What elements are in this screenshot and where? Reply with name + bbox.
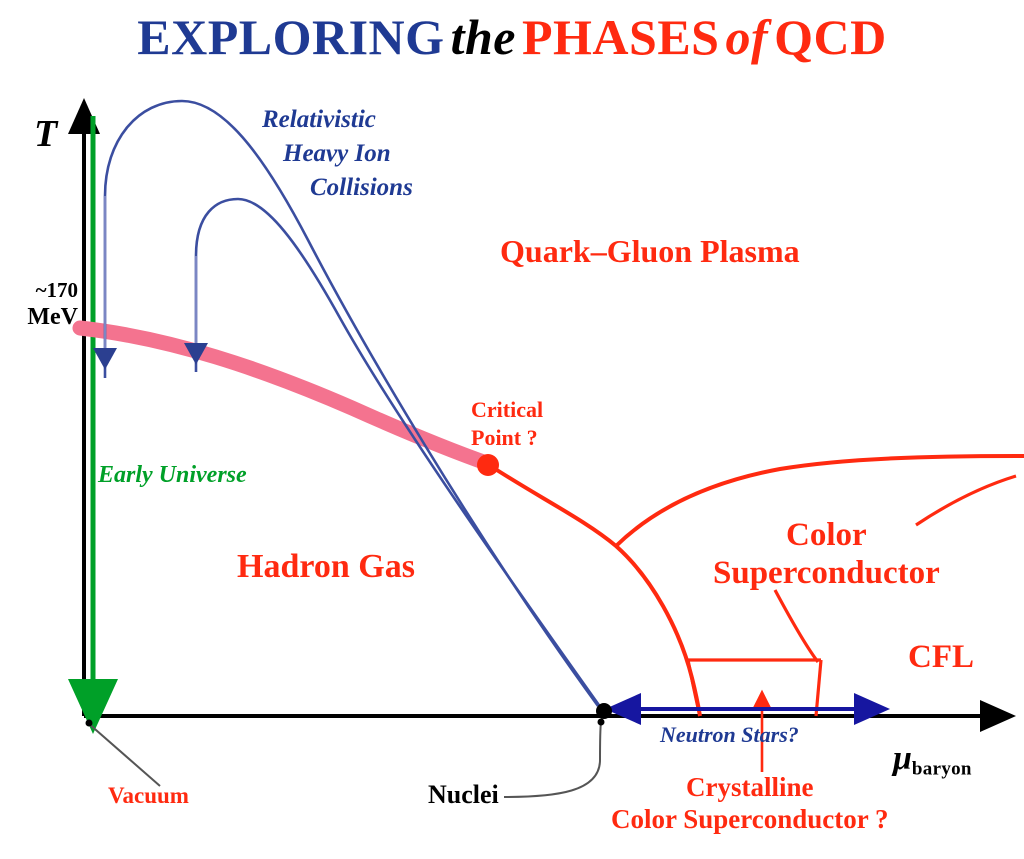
color-superconductor-line-1: Color — [713, 516, 940, 554]
vacuum-label: Vacuum — [108, 783, 189, 809]
critical-point-line-2: Point ? — [471, 424, 543, 452]
nuclei-leader-dot — [598, 719, 605, 726]
early-universe-label: Early Universe — [98, 462, 247, 489]
crystalline-line-2: Color Superconductor ? — [611, 804, 889, 836]
rhic-line-3: Collisions — [262, 171, 413, 205]
cfl-label: CFL — [908, 639, 974, 676]
neutron-stars-label: Neutron Stars? — [660, 722, 799, 748]
crystalline-line-1: Crystalline — [611, 772, 889, 804]
color-superconductor-line-2: Superconductor — [713, 554, 940, 592]
rhic-line-2: Heavy Ion — [262, 137, 413, 171]
qcd-phase-diagram-figure: EXPLORINGthePHASESofQCD — [0, 0, 1024, 859]
rhic-line-1: Relativistic — [262, 103, 413, 137]
y-tick-value: ~170 — [0, 278, 78, 303]
x-axis-label: μbaryon — [893, 740, 972, 781]
superconductor-leader-line — [775, 590, 818, 662]
y-axis-tick-label: ~170 MeV — [0, 278, 78, 331]
nuclei-leader-line — [504, 722, 601, 797]
nuclear-matter-point-marker — [596, 703, 612, 719]
mu-subscript: baryon — [912, 759, 972, 780]
nuclei-label: Nuclei — [428, 780, 499, 810]
first-order-line — [489, 465, 700, 716]
vacuum-leader-line — [88, 723, 160, 786]
crystalline-color-superconductor-label: Crystalline Color Superconductor ? — [611, 772, 889, 836]
hadron-gas-label: Hadron Gas — [237, 548, 415, 586]
rhic-annotation: Relativistic Heavy Ion Collisions — [262, 103, 413, 204]
vacuum-leader-dot — [86, 720, 93, 727]
y-tick-unit: MeV — [0, 303, 78, 331]
color-superconductor-label: Color Superconductor — [713, 516, 940, 593]
critical-point-label: Critical Point ? — [471, 396, 543, 451]
y-axis-label: T — [34, 112, 57, 156]
quark-gluon-plasma-label: Quark–Gluon Plasma — [500, 233, 800, 270]
rhic-trajectory-inner — [196, 199, 601, 708]
critical-point-line-1: Critical — [471, 396, 543, 424]
crossover-band — [80, 328, 489, 464]
mu-symbol: μ — [893, 740, 912, 777]
critical-point-marker — [477, 454, 499, 476]
